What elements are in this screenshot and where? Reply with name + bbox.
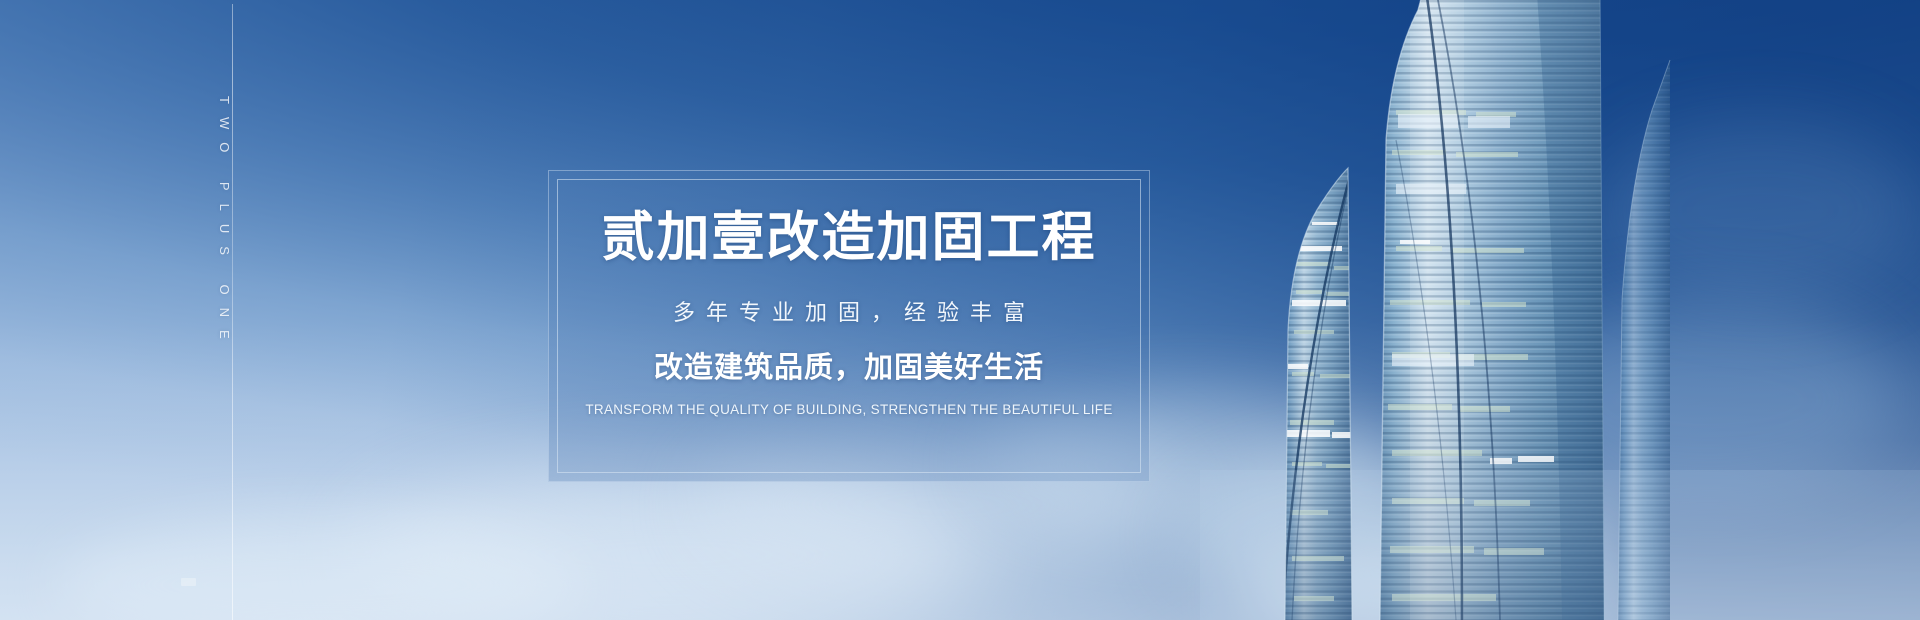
decorative-corner-mark bbox=[181, 578, 196, 586]
vertical-divider-line bbox=[232, 4, 233, 620]
hero-english-tagline: TRANSFORM THE QUALITY OF BUILDING, STREN… bbox=[548, 402, 1150, 418]
hero-subtitle: 多年专业加固，经验丰富 bbox=[548, 300, 1150, 326]
hero-banner: TWO PLUS ONE 贰加壹改造加固工程 多年专业加固，经验丰富 改造建筑品… bbox=[0, 0, 1920, 620]
hero-text-panel: 贰加壹改造加固工程 多年专业加固，经验丰富 改造建筑品质，加固美好生活 TRAN… bbox=[548, 170, 1150, 482]
hero-slogan: 改造建筑品质，加固美好生活 bbox=[548, 351, 1150, 386]
panel-content: 贰加壹改造加固工程 多年专业加固，经验丰富 改造建筑品质，加固美好生活 TRAN… bbox=[548, 210, 1150, 418]
hero-title: 贰加壹改造加固工程 bbox=[548, 210, 1150, 266]
vertical-brand-label: TWO PLUS ONE bbox=[217, 96, 232, 352]
